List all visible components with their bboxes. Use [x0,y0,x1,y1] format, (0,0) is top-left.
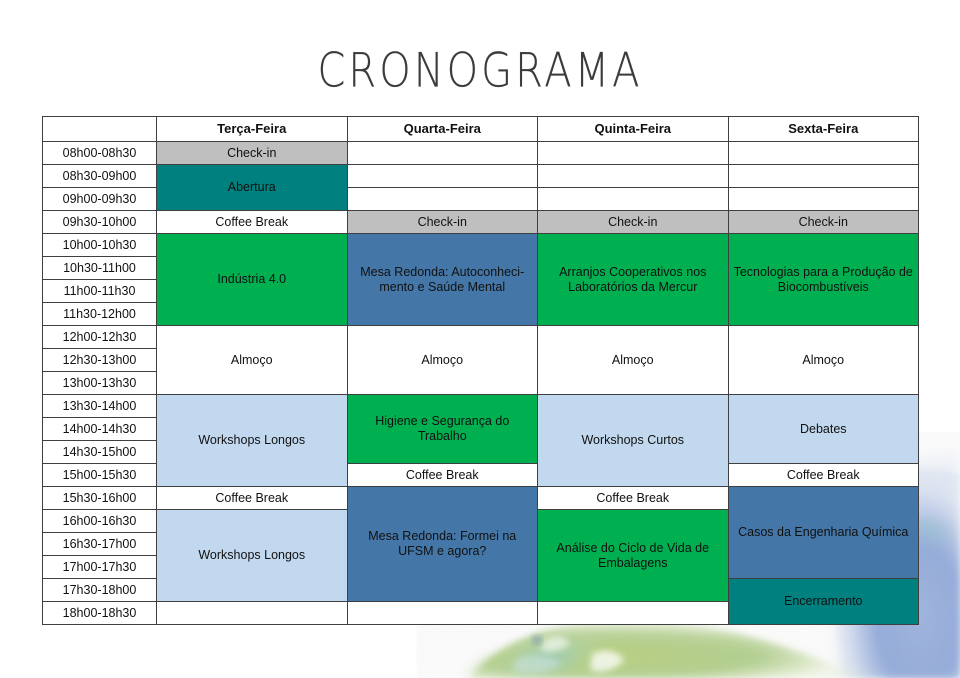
session-cell-quarta[interactable]: Check-in [347,211,538,234]
session-cell-terca[interactable]: Workshops Longos [157,510,348,602]
page-title-text: CRONOGRAMA [317,44,642,98]
time-slot-cell: 15h00-15h30 [43,464,157,487]
empty-cell-quarta [347,602,538,625]
empty-cell-quinta [538,602,729,625]
empty-cell-terca [157,602,348,625]
time-slot-cell: 18h00-18h30 [43,602,157,625]
table-row: 12h00-12h30AlmoçoAlmoçoAlmoçoAlmoço [43,326,919,349]
empty-cell-quarta [347,165,538,188]
session-cell-terca[interactable]: Almoço [157,326,348,395]
time-slot-cell: 13h30-14h00 [43,395,157,418]
page-title: CRONOGRAMA [0,44,960,98]
time-slot-cell: 12h00-12h30 [43,326,157,349]
session-cell-sexta[interactable]: Encerramento [728,579,919,625]
time-slot-cell: 10h00-10h30 [43,234,157,257]
session-cell-quinta[interactable]: Coffee Break [538,487,729,510]
empty-cell-quarta [347,142,538,165]
empty-cell-sexta [728,188,919,211]
schedule-table: Terça-Feira Quarta-Feira Quinta-Feira Se… [42,116,919,625]
session-cell-terca[interactable]: Indústria 4.0 [157,234,348,326]
day-header-quinta: Quinta-Feira [538,117,729,142]
session-cell-quinta[interactable]: Check-in [538,211,729,234]
table-row: 08h30-09h00Abertura [43,165,919,188]
table-row: 15h30-16h00Coffee BreakMesa Redonda: For… [43,487,919,510]
empty-cell-sexta [728,142,919,165]
session-cell-terca[interactable]: Workshops Longos [157,395,348,487]
session-cell-quinta[interactable]: Análise do Ciclo de Vida de Embalagens [538,510,729,602]
session-cell-quarta[interactable]: Coffee Break [347,464,538,487]
schedule-body: 08h00-08h30Check-in08h30-09h00Abertura09… [43,142,919,625]
session-cell-quarta[interactable]: Mesa Redonda: Autoconheci-mento e Saúde … [347,234,538,326]
session-cell-quarta[interactable]: Mesa Redonda: Formei na UFSM e agora? [347,487,538,602]
empty-cell-quinta [538,142,729,165]
time-slot-cell: 15h30-16h00 [43,487,157,510]
session-cell-quinta[interactable]: Arranjos Cooperativos nos Laboratórios d… [538,234,729,326]
day-header-terca: Terça-Feira [157,117,348,142]
empty-cell-quinta [538,188,729,211]
table-row: 08h00-08h30Check-in [43,142,919,165]
header-corner-cell [43,117,157,142]
time-slot-cell: 09h30-10h00 [43,211,157,234]
time-slot-cell: 14h30-15h00 [43,441,157,464]
session-cell-sexta[interactable]: Almoço [728,326,919,395]
time-slot-cell: 09h00-09h30 [43,188,157,211]
session-cell-sexta[interactable]: Check-in [728,211,919,234]
table-row: 13h30-14h00Workshops LongosHigiene e Seg… [43,395,919,418]
empty-cell-sexta [728,165,919,188]
time-slot-cell: 11h30-12h00 [43,303,157,326]
table-header-row: Terça-Feira Quarta-Feira Quinta-Feira Se… [43,117,919,142]
empty-cell-quinta [538,165,729,188]
time-slot-cell: 16h30-17h00 [43,533,157,556]
session-cell-sexta[interactable]: Debates [728,395,919,464]
time-slot-cell: 17h30-18h00 [43,579,157,602]
session-cell-terca[interactable]: Coffee Break [157,211,348,234]
time-slot-cell: 10h30-11h00 [43,257,157,280]
session-cell-quinta[interactable]: Workshops Curtos [538,395,729,487]
session-cell-sexta[interactable]: Coffee Break [728,464,919,487]
empty-cell-quarta [347,188,538,211]
time-slot-cell: 12h30-13h00 [43,349,157,372]
session-cell-quinta[interactable]: Almoço [538,326,729,395]
table-row: 09h30-10h00Coffee BreakCheck-inCheck-inC… [43,211,919,234]
time-slot-cell: 13h00-13h30 [43,372,157,395]
schedule-table-wrapper: Terça-Feira Quarta-Feira Quinta-Feira Se… [42,116,918,625]
time-slot-cell: 08h30-09h00 [43,165,157,188]
session-cell-terca[interactable]: Check-in [157,142,348,165]
time-slot-cell: 17h00-17h30 [43,556,157,579]
time-slot-cell: 16h00-16h30 [43,510,157,533]
time-slot-cell: 11h00-11h30 [43,280,157,303]
time-slot-cell: 14h00-14h30 [43,418,157,441]
day-header-sexta: Sexta-Feira [728,117,919,142]
session-cell-sexta[interactable]: Casos da Engenharia Química [728,487,919,579]
table-row: 10h00-10h30Indústria 4.0Mesa Redonda: Au… [43,234,919,257]
day-header-quarta: Quarta-Feira [347,117,538,142]
session-cell-terca[interactable]: Coffee Break [157,487,348,510]
session-cell-quarta[interactable]: Almoço [347,326,538,395]
session-cell-sexta[interactable]: Tecnologias para a Produção de Biocombus… [728,234,919,326]
time-slot-cell: 08h00-08h30 [43,142,157,165]
session-cell-terca[interactable]: Abertura [157,165,348,211]
session-cell-quarta[interactable]: Higiene e Segurança do Trabalho [347,395,538,464]
